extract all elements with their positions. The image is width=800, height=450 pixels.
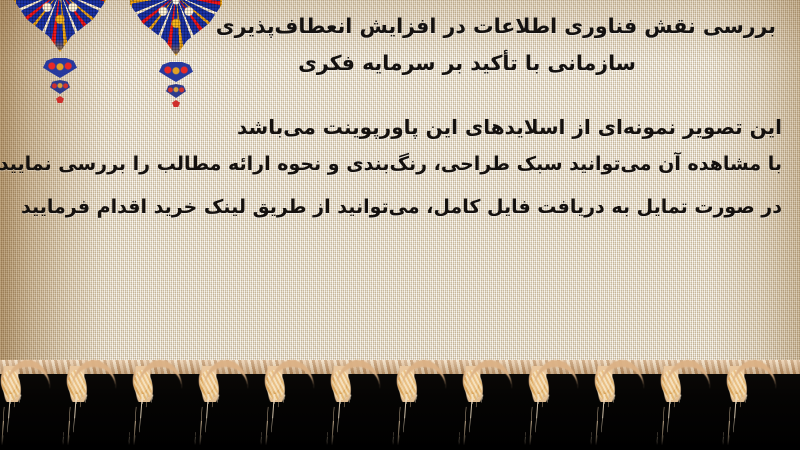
title-line-2: سازمانی با تأکید بر سرمایه فکری (250, 45, 776, 82)
pendant-large-drop (159, 62, 193, 82)
pendant-small-drop (50, 80, 70, 94)
powerpoint-slide-preview: بررسی نقش فناوری اطلاعات در افزایش انعطا… (0, 0, 800, 450)
pendant-tip-dot (172, 100, 180, 107)
fringe-strands (656, 393, 688, 447)
pendant-large-drop (43, 58, 77, 78)
fringe-strands (722, 393, 754, 447)
pendant-small-drop (166, 84, 186, 98)
fringe-strands (0, 393, 28, 447)
carpet-medallion-left (130, 0, 222, 56)
fringe-strands (326, 393, 358, 447)
medallion-pendant (43, 58, 77, 103)
body-line-1: این تصویر نمونه‌ای از اسلایدهای این پاور… (20, 112, 782, 142)
fringe-strands (392, 393, 424, 447)
slide-title: بررسی نقش فناوری اطلاعات در افزایش انعطا… (250, 8, 776, 82)
title-line-1: بررسی نقش فناوری اطلاعات در افزایش انعطا… (250, 8, 776, 45)
body-line-2: با مشاهده آن می‌توانید سبک طراحی، رنگ‌بن… (20, 142, 782, 186)
carpet-medallion-right (14, 0, 106, 52)
medallion-field (14, 0, 106, 52)
slide-body-text: این تصویر نمونه‌ای از اسلایدهای این پاور… (20, 112, 782, 229)
fringe-strands (194, 393, 226, 447)
body-line-3: در صورت تمایل به دریافت فایل کامل، می‌تو… (20, 186, 782, 229)
pendant-tip-dot (56, 96, 64, 103)
fringe-strands (260, 393, 292, 447)
fringe-strands (524, 393, 556, 447)
fringe-strands (62, 393, 94, 447)
carpet-fringe-row (0, 366, 800, 450)
medallion-field (130, 0, 222, 56)
fringe-strands (458, 393, 490, 447)
fringe-strands (590, 393, 622, 447)
fringe-strands (128, 393, 160, 447)
medallion-pendant (159, 62, 193, 107)
